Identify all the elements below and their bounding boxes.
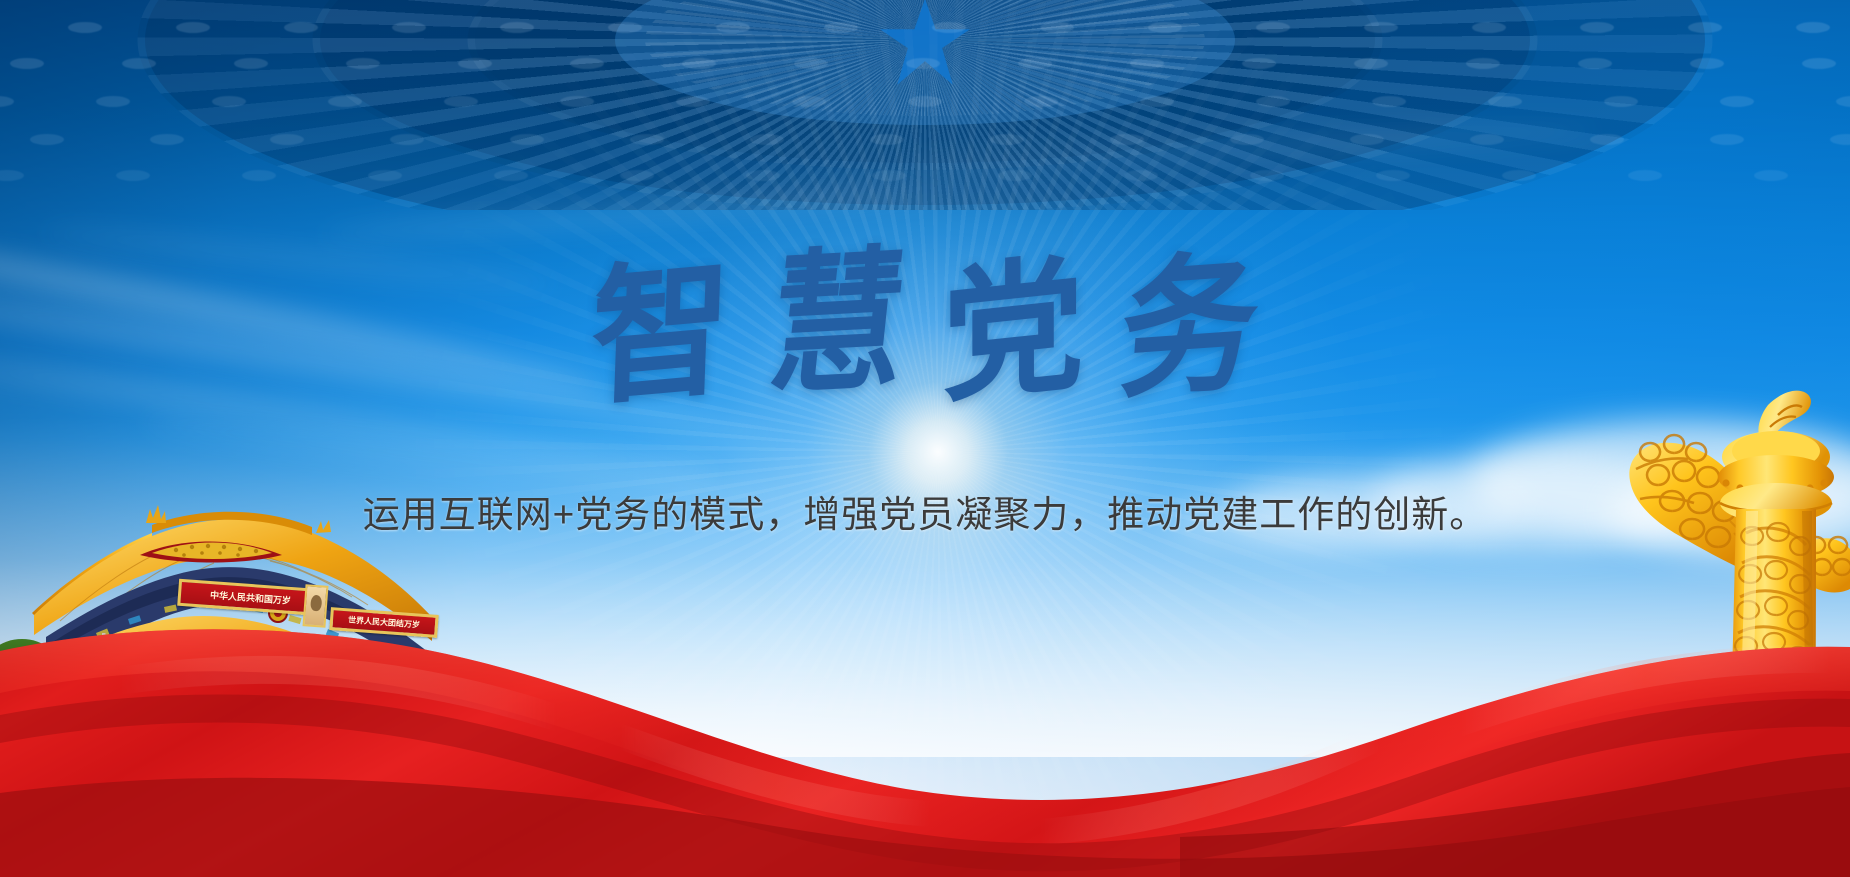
ceiling-lamp xyxy=(0,96,14,107)
banner-subtitle: 运用互联网+党务的模式，增强党员凝聚力，推动党建工作的创新。 xyxy=(0,492,1850,538)
ceiling-lamp xyxy=(1710,134,1744,145)
ceiling-lamp xyxy=(0,170,24,181)
ceiling-lamp xyxy=(10,58,44,69)
ceiling-lamp xyxy=(1836,96,1850,107)
ceiling-lamp xyxy=(1688,22,1722,33)
red-silk-ribbon xyxy=(0,587,1850,877)
ceiling-lamp xyxy=(30,134,64,145)
ceiling-lamp xyxy=(1754,170,1788,181)
ceiling-lamp xyxy=(116,170,150,181)
ceiling-lamp xyxy=(1690,58,1724,69)
ceiling-lamp xyxy=(1802,58,1836,69)
banner-stage: 中华人民共和国万岁 世界人民大团结万岁 xyxy=(0,0,1850,877)
ceiling-lamp xyxy=(122,58,156,69)
ceiling-lamp xyxy=(96,96,130,107)
ceiling-lamp xyxy=(68,22,102,33)
ceiling-lamp xyxy=(1796,22,1830,33)
ribbon-illustration xyxy=(0,587,1850,877)
ceiling-lamp xyxy=(1830,134,1850,145)
ceiling-lamp xyxy=(1720,96,1754,107)
ceiling-lamp xyxy=(150,134,184,145)
